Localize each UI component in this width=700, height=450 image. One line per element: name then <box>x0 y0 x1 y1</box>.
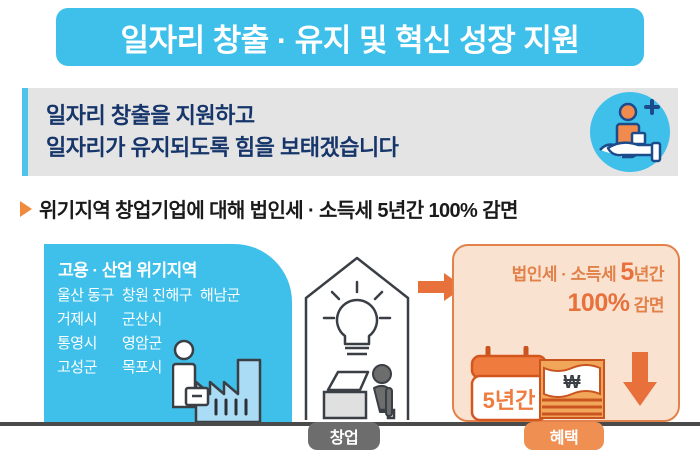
subtitle-line-2: 일자리가 유지되도록 힘을 보태겠습니다 <box>46 132 398 164</box>
region-item: 울산 동구 <box>57 285 114 307</box>
benefit-label-pill: 혜택 <box>524 422 604 450</box>
benefit-line-2: 100% 감면 <box>512 289 664 320</box>
startup-label: 창업 <box>330 424 358 448</box>
title-banner: 일자리 창출 · 유지 및 혁신 성장 지원 <box>56 8 644 66</box>
money-stack-icon: ₩ <box>538 354 606 422</box>
hand-holding-person-plus-icon <box>588 90 672 174</box>
region-item: 통영시 <box>57 333 114 355</box>
page-title: 일자리 창출 · 유지 및 혁신 성장 지원 <box>121 15 580 60</box>
region-panel: 고용 · 산업 위기지역 울산 동구 거제시 통영시 고성군 창원 진해구 군산… <box>44 244 292 422</box>
svg-text:5년간: 5년간 <box>483 388 536 413</box>
region-column-1: 울산 동구 거제시 통영시 고성군 <box>57 285 114 379</box>
subtitle-band: 일자리 창출을 지원하고 일자리가 유지되도록 힘을 보태겠습니다 <box>22 88 678 176</box>
subtitle-accent-bar <box>22 88 28 176</box>
house-lightbulb-person-desk-icon <box>296 252 418 422</box>
region-item: 창원 진해구 <box>122 285 192 307</box>
subtitle-text: 일자리 창출을 지원하고 일자리가 유지되도록 힘을 보태겠습니다 <box>46 100 398 164</box>
svg-text:₩: ₩ <box>564 372 581 392</box>
triangle-right-icon <box>20 201 32 217</box>
region-panel-heading: 고용 · 산업 위기지역 <box>58 256 197 281</box>
bullet-row: 위기지역 창업기업에 대해 법인세 · 소득세 5년간 100% 감면 <box>20 194 518 223</box>
startup-label-pill: 창업 <box>308 422 380 450</box>
bullet-text: 위기지역 창업기업에 대해 법인세 · 소득세 5년간 100% 감면 <box>39 194 518 223</box>
arrow-down-icon <box>622 352 658 408</box>
subtitle-line-1: 일자리 창출을 지원하고 <box>46 100 398 132</box>
benefit-label: 혜택 <box>550 424 578 448</box>
factory-with-worker-icon <box>172 326 292 422</box>
benefit-years-number: 5 <box>620 258 633 286</box>
diagram: 고용 · 산업 위기지역 울산 동구 거제시 통영시 고성군 창원 진해구 군산… <box>0 236 700 450</box>
benefit-percent-number: 100% <box>568 289 630 317</box>
region-item: 해남군 <box>200 285 240 307</box>
benefit-line-1: 법인세 · 소득세 5년간 <box>512 258 664 289</box>
benefit-text: 법인세 · 소득세 5년간 100% 감면 <box>512 258 664 320</box>
region-item: 고성군 <box>57 357 114 379</box>
benefit-panel: 법인세 · 소득세 5년간 100% 감면 5년간 ₩ <box>452 244 680 422</box>
region-item: 거제시 <box>57 309 114 331</box>
